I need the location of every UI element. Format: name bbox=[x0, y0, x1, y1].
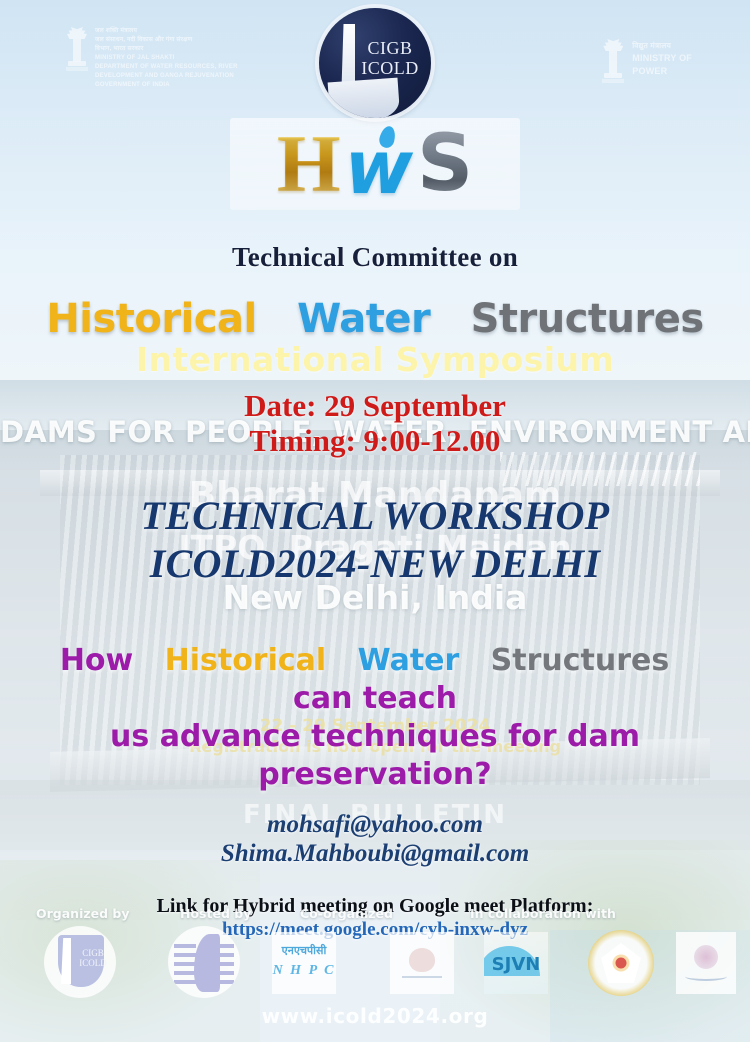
contact-email-1[interactable]: mohsafi@yahoo.com bbox=[0, 810, 750, 839]
incold-dam-icon bbox=[168, 926, 240, 998]
sjvn-label: SJVN bbox=[484, 954, 548, 975]
title-space bbox=[444, 296, 457, 342]
cigb-badge-line-2: ICOLD bbox=[76, 958, 110, 968]
title-historical: Historical bbox=[46, 296, 256, 342]
icold-label: ICOLD bbox=[357, 58, 423, 78]
partner-logo-cigb-icold: CIGB ICOLD bbox=[44, 926, 116, 998]
ministry-of-power-emblem: विद्युत मंत्रालय MINISTRY OF POWER bbox=[602, 38, 692, 84]
cigb-icold-badge-icon: CIGB ICOLD bbox=[44, 926, 116, 998]
crest-logo-icon bbox=[676, 932, 736, 994]
dam-bowl-shape bbox=[328, 78, 401, 118]
page-title: Historical Water Structures bbox=[0, 296, 750, 342]
schedule-timing: Timing: 9:00-12.00 bbox=[0, 423, 750, 458]
jal-shakti-emblem-lines: जल शक्ति मंत्रालय जल संसाधन, नदी विकास औ… bbox=[95, 26, 238, 89]
question-how: How bbox=[60, 643, 133, 678]
mop-line-1: MINISTRY OF bbox=[632, 53, 692, 64]
question-tail: can teach bbox=[293, 681, 457, 716]
ministry-of-power-lines: विद्युत मंत्रालय MINISTRY OF POWER bbox=[632, 38, 692, 77]
ashoka-pillar-icon bbox=[602, 38, 624, 84]
poster-canvas: International Symposium DAMS FOR PEOPLE,… bbox=[0, 0, 750, 1042]
title-structures: Structures bbox=[471, 296, 704, 342]
contact-emails: mohsafi@yahoo.com Shima.Mahboubi@gmail.c… bbox=[0, 810, 750, 868]
workshop-line-1: TECHNICAL WORKSHOP bbox=[0, 492, 750, 540]
partner-logo-sjvn: SJVN bbox=[484, 932, 548, 994]
hws-letter-s: S bbox=[417, 123, 473, 205]
schedule-block: Date: 29 September Timing: 9:00-12.00 bbox=[0, 388, 750, 458]
sjvn-logo-icon: SJVN bbox=[484, 932, 548, 994]
emblem-line: MINISTRY OF JAL SHAKTI bbox=[95, 55, 238, 62]
partner-logo-generic bbox=[390, 932, 454, 994]
partner-logo-incold bbox=[168, 926, 240, 998]
emblem-line: जल संसाधन, नदी विकास और गंगा संरक्षण bbox=[95, 37, 238, 44]
hws-letter-h: H bbox=[277, 123, 341, 205]
contact-email-2[interactable]: Shima.Mahboubi@gmail.com bbox=[0, 839, 750, 868]
mop-line-2: POWER bbox=[632, 66, 692, 77]
cigb-label: CIGB bbox=[357, 38, 423, 58]
poster-header: जल शक्ति मंत्रालय जल संसाधन, नदी विकास औ… bbox=[0, 0, 750, 120]
schedule-date: Date: 29 September bbox=[0, 388, 750, 423]
partner-logo-icon bbox=[390, 932, 454, 994]
question-line-1: How Historical Water Structures can teac… bbox=[28, 642, 722, 718]
partner-logo-crest bbox=[676, 932, 736, 994]
hws-wordmark-icon: H w S bbox=[230, 118, 520, 210]
emblem-line: DEVELOPMENT AND GANGA REJUVENATION bbox=[95, 73, 238, 80]
question-line-2: us advance techniques for dam bbox=[28, 718, 722, 756]
emblem-line: विभाग, भारत सरकार bbox=[95, 46, 238, 53]
hosted-by-label: Hosted by bbox=[180, 906, 251, 921]
partner-logo-institute bbox=[588, 930, 654, 996]
partner-logo-strip: Organized by Hosted by Co-organized In c… bbox=[0, 900, 750, 1010]
co-organized-label: Co-organized bbox=[300, 906, 393, 921]
workshop-heading: TECHNICAL WORKSHOP ICOLD2024-NEW DELHI bbox=[0, 492, 750, 588]
ashoka-pillar-icon bbox=[66, 26, 88, 72]
committee-label: Technical Committee on bbox=[0, 242, 750, 273]
partner-logo-nhpc: एनएचपीसी N H P C bbox=[272, 932, 336, 994]
question-water: Water bbox=[358, 643, 460, 678]
cigb-icold-logo-text: CIGB ICOLD bbox=[357, 38, 423, 78]
question-line-3: preservation? bbox=[28, 756, 722, 794]
workshop-line-2: ICOLD2024-NEW DELHI bbox=[0, 540, 750, 588]
workshop-question: How Historical Water Structures can teac… bbox=[0, 642, 750, 794]
gold-round-logo-icon bbox=[588, 930, 654, 996]
nhpc-hindi-label: एनएचपीसी bbox=[272, 943, 336, 958]
emblem-line: जल शक्ति मंत्रालय bbox=[95, 28, 238, 35]
emblem-line: DEPARTMENT OF WATER RESOURCES, RIVER bbox=[95, 64, 238, 71]
organized-by-label: Organized by bbox=[36, 906, 130, 921]
title-space bbox=[270, 296, 283, 342]
question-structures: Structures bbox=[491, 643, 670, 678]
in-collaboration-label: In collaboration with bbox=[470, 906, 616, 921]
emblem-line: GOVERNMENT OF INDIA bbox=[95, 82, 238, 89]
title-water: Water bbox=[297, 296, 430, 342]
nhpc-logo-icon: एनएचपीसी N H P C bbox=[272, 932, 336, 994]
nhpc-abbr-label: N H P C bbox=[272, 963, 336, 979]
question-historical: Historical bbox=[165, 643, 327, 678]
cigb-badge-line-1: CIGB bbox=[76, 948, 110, 958]
cigb-icold-logo-icon: CIGB ICOLD bbox=[319, 8, 431, 118]
mop-hindi-label: विद्युत मंत्रालय bbox=[632, 40, 692, 51]
jal-shakti-emblem: जल शक्ति मंत्रालय जल संसाधन, नदी विकास औ… bbox=[66, 26, 238, 89]
